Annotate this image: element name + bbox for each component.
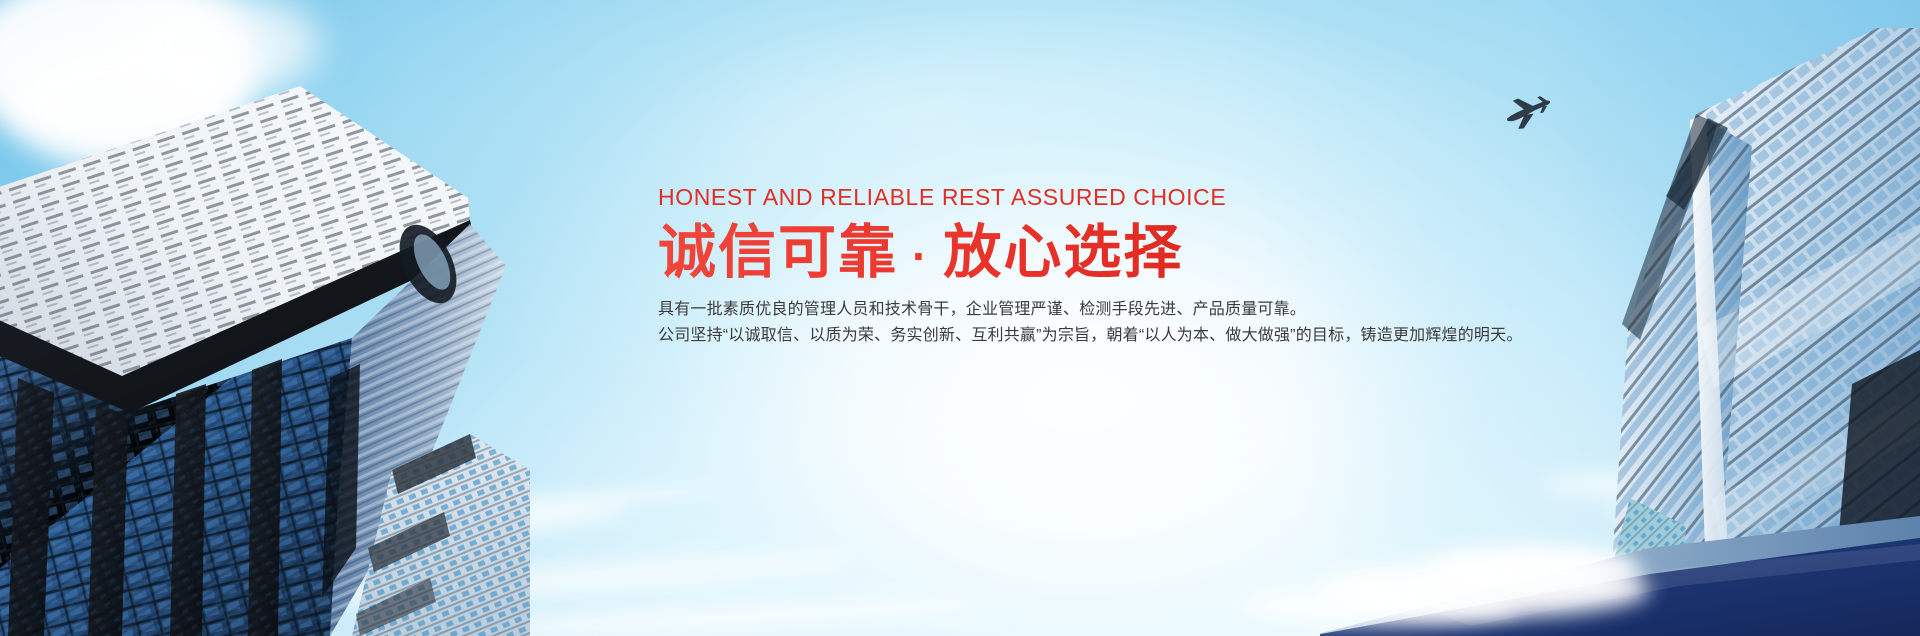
banner-copy: HONEST AND RELIABLE REST ASSURED CHOICE … (658, 186, 1718, 349)
headline-right: 放心选择 (943, 220, 1183, 285)
banner-body-line-2: 公司坚持“以诚取信、以质为荣、务实创新、互利共赢”为宗旨，朝着“以人为本、做大做… (658, 323, 1718, 349)
headline-left: 诚信可靠 (658, 220, 898, 285)
bottom-right-building-slab (1320, 516, 1920, 636)
banner-headline: 诚信可靠·放心选择 (658, 222, 1718, 283)
headline-separator: · (898, 230, 943, 282)
hero-banner: HONEST AND RELIABLE REST ASSURED CHOICE … (0, 0, 1920, 636)
airplane-icon (1502, 92, 1558, 132)
banner-body-line-1: 具有一批素质优良的管理人员和技术骨干，企业管理严谨、检测手段先进、产品质量可靠。 (658, 297, 1718, 323)
left-building (0, 78, 530, 636)
banner-eyebrow: HONEST AND RELIABLE REST ASSURED CHOICE (658, 186, 1718, 209)
